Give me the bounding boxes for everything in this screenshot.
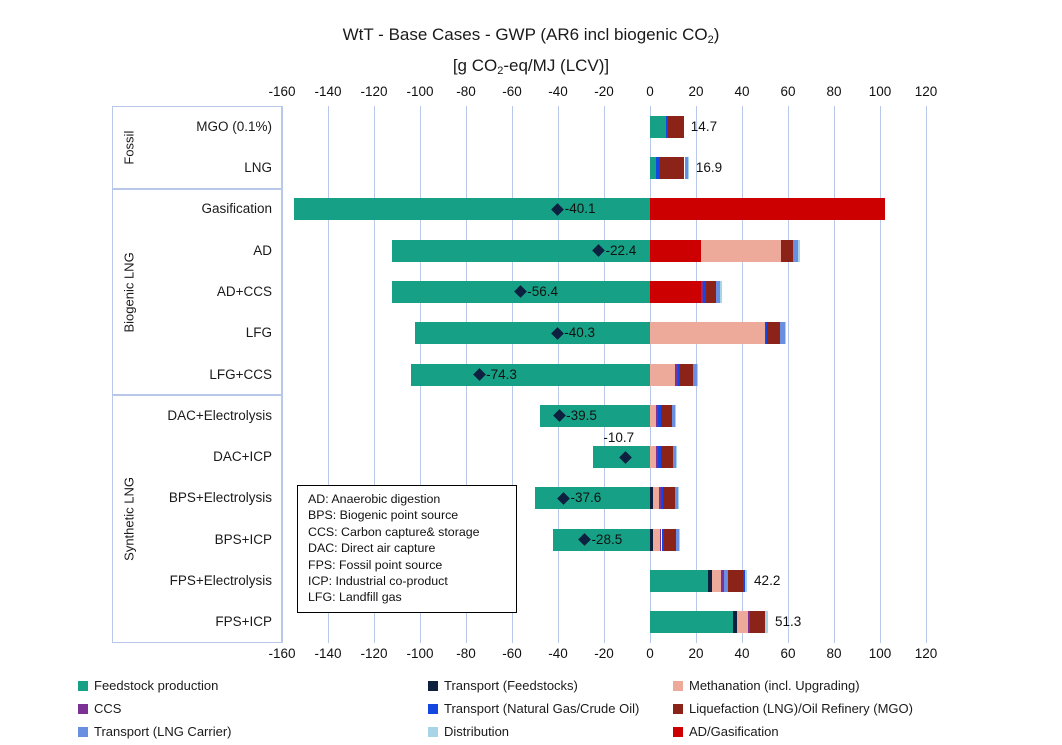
bar-segment-feedstock: [415, 322, 650, 344]
bar-segment-liquefaction: [663, 487, 675, 509]
abbreviations-box: AD: Anaerobic digestionBPS: Biogenic poi…: [297, 485, 517, 613]
x-tick-0: 0: [625, 646, 675, 661]
row-label-ad: AD: [253, 242, 272, 260]
bar-segment-liquefaction: [661, 405, 673, 427]
abbreviation-item: CCS: Carbon capture& storage: [308, 524, 508, 540]
bar-segment-distribution: [745, 570, 747, 592]
bar-row-mgo-0-1-[interactable]: [282, 116, 926, 138]
chart-legend: Feedstock productionCCSTransport (LNG Ca…: [78, 676, 1053, 738]
row-label-ad-ccs: AD+CCS: [217, 283, 272, 301]
x-tick--160: -160: [257, 646, 307, 661]
bar-segment-liquefaction: [750, 611, 765, 633]
legend-swatch-methanation: [673, 681, 683, 691]
legend-item-label: Feedstock production: [94, 678, 218, 693]
legend-item-label: AD/Gasification: [689, 724, 779, 739]
bar-segment-liquefaction: [660, 157, 685, 179]
net-value-label: -22.4: [605, 240, 636, 262]
bar-segment-liquefaction: [668, 116, 683, 138]
legend-item-label: Liquefaction (LNG)/Oil Refinery (MGO): [689, 701, 913, 716]
bar-segment-methanation: [737, 611, 747, 633]
abbreviation-item: DAC: Direct air capture: [308, 540, 508, 556]
net-value-label: -74.3: [486, 364, 517, 386]
legend-swatch-transport-feedstocks: [428, 681, 438, 691]
gridline-120: [926, 106, 927, 643]
legend-item-label: Transport (LNG Carrier): [94, 724, 231, 739]
bar-segment-feedstock: [650, 611, 733, 633]
net-value-label: -40.1: [565, 198, 596, 220]
legend-item[interactable]: Transport (LNG Carrier): [78, 722, 231, 741]
bar-segment-feedstock: [411, 364, 650, 386]
net-value-label: -10.7: [603, 427, 634, 449]
bar-segment-methanation: [650, 364, 675, 386]
bar-segment-ad-gasification: [650, 281, 701, 303]
group-box-synthetic-lng: Synthetic LNG: [112, 395, 282, 643]
bar-segment-liquefaction: [767, 322, 780, 344]
row-label-gasification: Gasification: [201, 200, 272, 218]
row-label-bps-electrolysis: BPS+Electrolysis: [169, 489, 272, 507]
x-tick-60: 60: [763, 646, 813, 661]
bar-segment-methanation: [650, 322, 765, 344]
x-tick-100: 100: [855, 646, 905, 661]
bar-segment-distribution: [676, 446, 677, 468]
bar-segment-liquefaction: [706, 281, 716, 303]
legend-item[interactable]: Feedstock production: [78, 676, 218, 695]
legend-swatch-feedstock-production: [78, 681, 88, 691]
bar-row-fps-icp[interactable]: [282, 611, 926, 633]
bar-segment-feedstock: [650, 570, 708, 592]
bar-row-gasification[interactable]: [282, 198, 926, 220]
bar-total-label: 14.7: [691, 116, 717, 138]
net-value-label: -39.5: [566, 405, 597, 427]
bar-total-label: 51.3: [775, 611, 801, 633]
bar-segment-liquefaction: [728, 570, 743, 592]
bar-row-lng[interactable]: [282, 157, 926, 179]
row-label-bps-icp: BPS+ICP: [215, 531, 272, 549]
bar-segment-methanation: [701, 240, 782, 262]
bar-segment-distribution: [785, 322, 786, 344]
bar-row-dac-icp[interactable]: [282, 446, 926, 468]
group-label-biogenic-lng: Biogenic LNG: [112, 190, 146, 395]
row-label-dac-icp: DAC+ICP: [213, 448, 272, 466]
bar-segment-feedstock: [294, 198, 651, 220]
legend-item[interactable]: CCS: [78, 699, 121, 718]
row-label-mgo-0-1-: MGO (0.1%): [196, 118, 272, 136]
legend-item[interactable]: Transport (Feedstocks): [428, 676, 578, 695]
legend-item[interactable]: AD/Gasification: [673, 722, 779, 741]
net-value-label: -37.6: [571, 487, 602, 509]
x-tick--140: -140: [303, 646, 353, 661]
bar-row-dac-electrolysis[interactable]: [282, 405, 926, 427]
legend-swatch-transport-lng-carrier: [78, 727, 88, 737]
legend-item[interactable]: Transport (Natural Gas/Crude Oil): [428, 699, 639, 718]
legend-swatch-transport-natural-gas: [428, 704, 438, 714]
bar-segment-liquefaction: [781, 240, 793, 262]
x-axis-ticks-bottom: -160-140-120-100-80-60-40-20020406080100…: [0, 646, 1062, 664]
x-tick--80: -80: [441, 646, 491, 661]
legend-item-label: Transport (Feedstocks): [444, 678, 578, 693]
x-tick--60: -60: [487, 646, 537, 661]
legend-item-label: CCS: [94, 701, 121, 716]
legend-item-label: Transport (Natural Gas/Crude Oil): [444, 701, 639, 716]
row-label-lfg-ccs: LFG+CCS: [209, 366, 272, 384]
bar-segment-distribution: [765, 611, 768, 633]
bar-row-lfg-ccs[interactable]: [282, 364, 926, 386]
abbreviation-item: ICP: Industrial co-product: [308, 573, 508, 589]
legend-swatch-distribution: [428, 727, 438, 737]
bar-segment-distribution: [675, 405, 676, 427]
x-tick-120: 120: [901, 646, 951, 661]
abbreviation-item: AD: Anaerobic digestion: [308, 491, 508, 507]
x-tick-40: 40: [717, 646, 767, 661]
legend-swatch-ccs: [78, 704, 88, 714]
group-label-synthetic-lng: Synthetic LNG: [112, 396, 146, 642]
bar-segment-distribution: [798, 240, 799, 262]
bar-row-ad-ccs[interactable]: [282, 281, 926, 303]
row-label-lng: LNG: [244, 159, 272, 177]
x-tick--100: -100: [395, 646, 445, 661]
bar-segment-liquefaction: [661, 446, 673, 468]
legend-item-label: Methanation (incl. Upgrading): [689, 678, 860, 693]
bar-segment-distribution: [678, 487, 679, 509]
bar-segment-feedstock: [650, 116, 666, 138]
legend-item[interactable]: Liquefaction (LNG)/Oil Refinery (MGO): [673, 699, 913, 718]
bar-segment-ad-gasification: [650, 240, 701, 262]
net-value-label: -56.4: [527, 281, 558, 303]
legend-item-label: Distribution: [444, 724, 509, 739]
legend-item[interactable]: Distribution: [428, 722, 509, 741]
x-tick--40: -40: [533, 646, 583, 661]
bar-segment-methanation: [712, 570, 721, 592]
x-tick--120: -120: [349, 646, 399, 661]
bar-segment-distribution: [688, 157, 689, 179]
legend-swatch-liquefaction: [673, 704, 683, 714]
bar-segment-distribution: [697, 364, 698, 386]
bar-segment-distribution: [720, 281, 721, 303]
bar-row-lfg[interactable]: [282, 322, 926, 344]
row-label-column: FossilBiogenic LNGSynthetic LNGMGO (0.1%…: [112, 106, 282, 643]
x-tick-80: 80: [809, 646, 859, 661]
legend-swatch-ad-gasification: [673, 727, 683, 737]
bar-segment-distribution: [679, 529, 680, 551]
abbreviation-item: FPS: Fossil point source: [308, 557, 508, 573]
net-value-label: -28.5: [591, 529, 622, 551]
abbreviation-item: BPS: Biogenic point source: [308, 507, 508, 523]
net-value-label: -40.3: [564, 322, 595, 344]
bar-segment-ad-gasification: [650, 198, 885, 220]
x-tick-20: 20: [671, 646, 721, 661]
legend-item[interactable]: Methanation (incl. Upgrading): [673, 676, 860, 695]
x-tick--20: -20: [579, 646, 629, 661]
row-label-lfg: LFG: [246, 324, 272, 342]
bar-segment-liquefaction: [680, 364, 693, 386]
bar-total-label: 16.9: [696, 157, 722, 179]
row-label-fps-electrolysis: FPS+Electrolysis: [170, 572, 272, 590]
row-label-dac-electrolysis: DAC+Electrolysis: [167, 407, 272, 425]
abbreviation-item: LFG: Landfill gas: [308, 589, 508, 605]
group-label-fossil: Fossil: [112, 107, 146, 188]
row-label-fps-icp: FPS+ICP: [215, 613, 272, 631]
bar-total-label: 42.2: [754, 570, 780, 592]
bar-segment-liquefaction: [664, 529, 676, 551]
